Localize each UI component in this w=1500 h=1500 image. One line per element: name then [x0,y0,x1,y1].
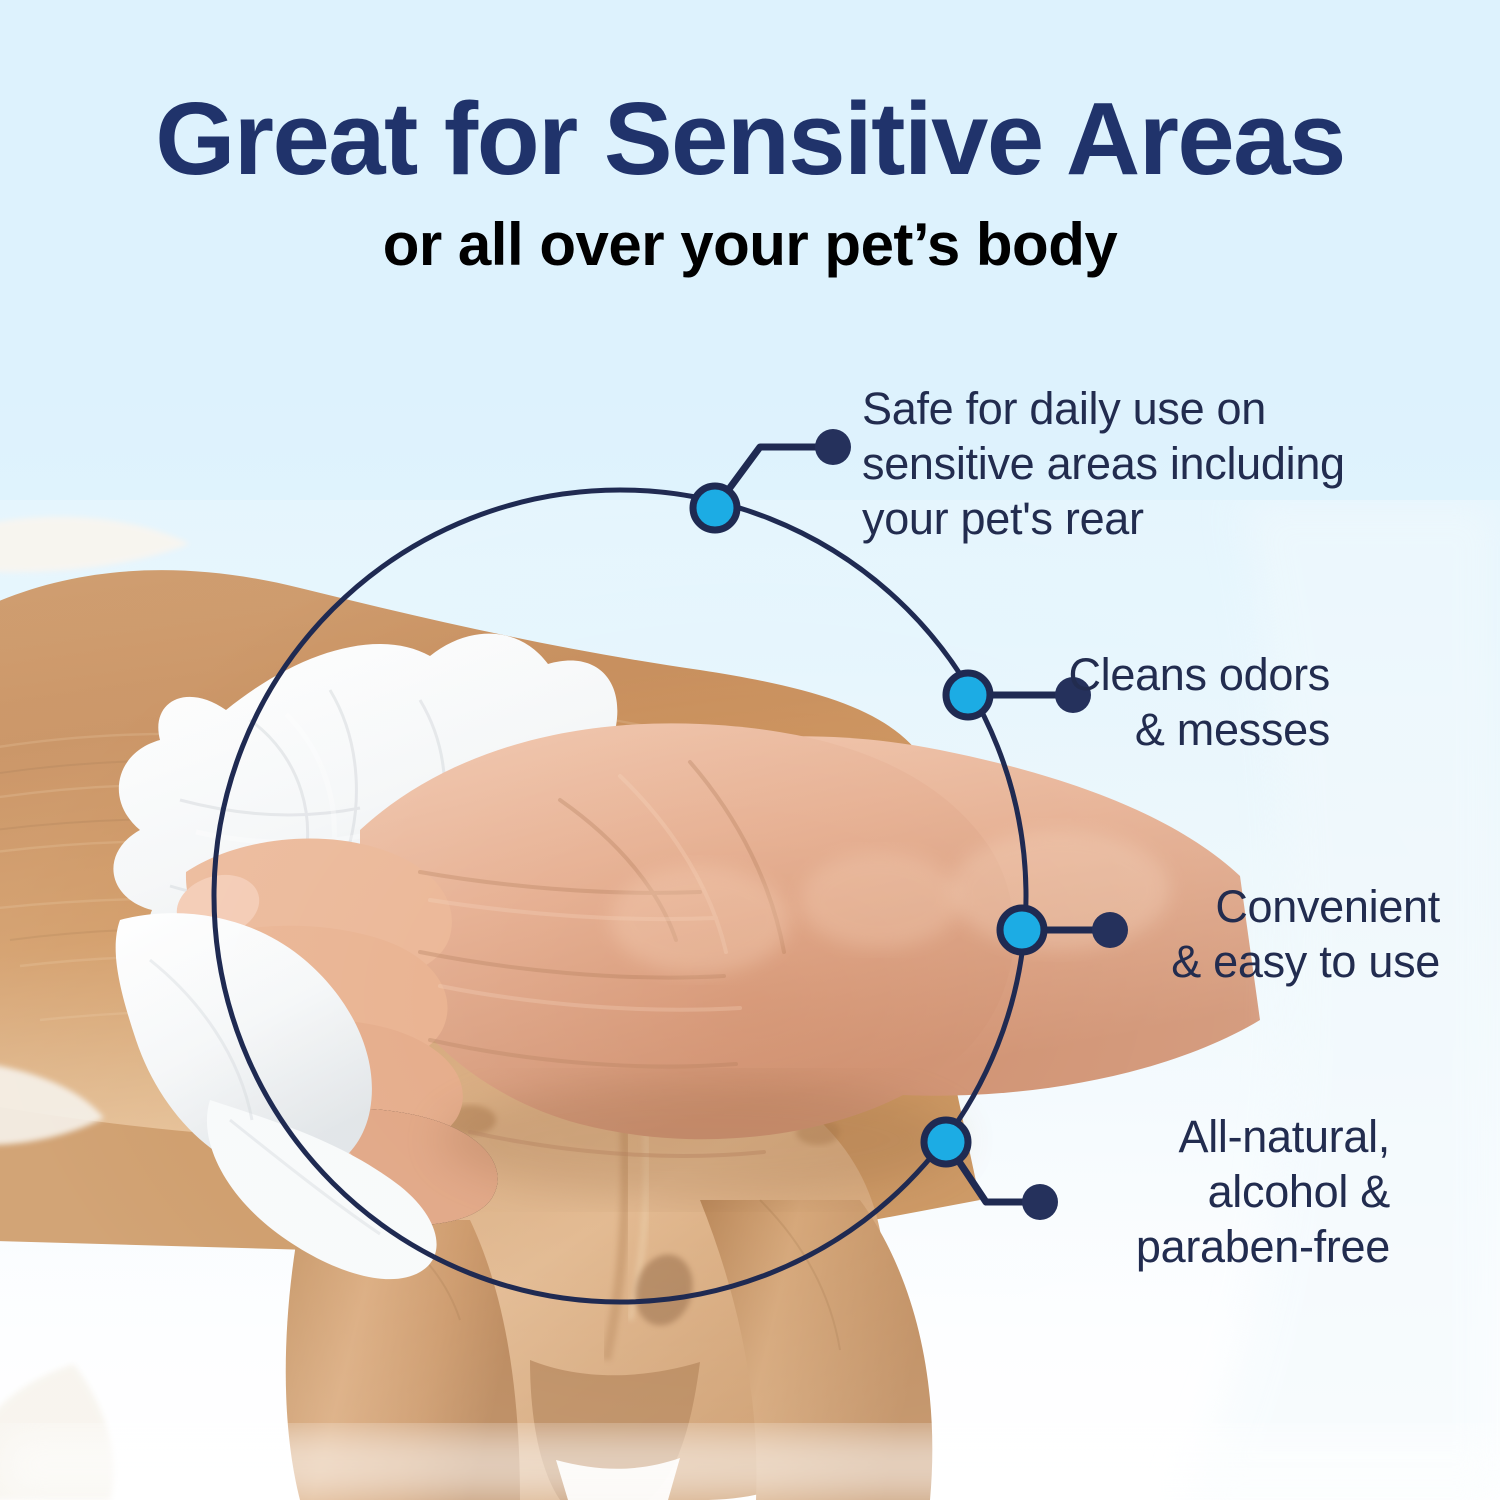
callout-label-safe-daily-use: Safe for daily use on sensitive areas in… [862,382,1442,547]
infographic-page: Great for Sensitive Areas or all over yo… [0,0,1500,1500]
header-block: Great for Sensitive Areas or all over yo… [0,0,1500,276]
connector-line-safe-daily-use [715,447,833,508]
page-title: Great for Sensitive Areas [0,0,1500,191]
end-dot-safe-daily-use [815,429,851,465]
page-subtitle: or all over your pet’s body [0,191,1500,276]
callout-label-cleans-odors: Cleans odors & messes [920,648,1330,758]
callout-label-all-natural: All-natural, alcohol & paraben-free [960,1110,1390,1275]
callout-label-convenient-easy: Convenient & easy to use [940,880,1440,990]
